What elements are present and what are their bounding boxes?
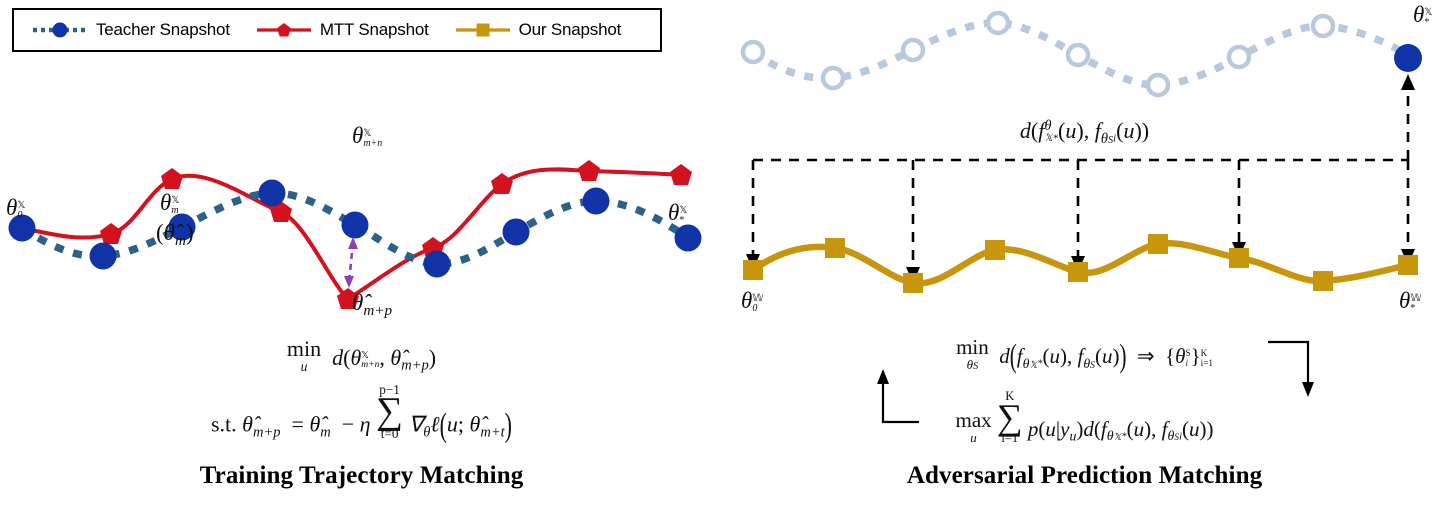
- left-objective-equation: minu d(θ𝕏m+n, θ̂m+p): [0, 338, 723, 374]
- right-panel-caption: Adversarial Prediction Matching: [723, 462, 1446, 490]
- legend-item-our-snapshot: Our Snapshot: [455, 20, 622, 40]
- legend: Teacher Snapshot MTT Snapshot Our Snapsh…: [12, 8, 662, 52]
- legend-label-our-snapshot: Our Snapshot: [519, 20, 622, 40]
- label-theta-m-teacher: θ𝕏m: [160, 190, 179, 216]
- legend-label-mtt-snapshot: MTT Snapshot: [320, 20, 429, 40]
- legend-item-teacher-snapshot: Teacher Snapshot: [32, 20, 230, 40]
- label-theta-0-student: θ𝕎0: [741, 288, 763, 314]
- mtt-snapshot-legend-swatch: [256, 20, 312, 40]
- label-theta-m-plus-n-teacher: θ𝕏m+n: [352, 123, 382, 149]
- label-theta-0-teacher: θ𝕏0: [6, 195, 25, 221]
- legend-item-mtt-snapshot: MTT Snapshot: [256, 20, 429, 40]
- label-theta-star-student: θ𝕎*: [1399, 288, 1421, 314]
- prediction-matching-connectors: [753, 80, 1408, 271]
- right-max-equation: maxu K∑i=1 p(u|yu)d(fθ𝕏*(u), fθSi(u)): [723, 390, 1446, 445]
- label-theta-hat-m: (θ̂m): [156, 220, 194, 250]
- label-distance-function: d(fθ𝕏*(u), fθSi(u)): [723, 118, 1446, 148]
- our-snapshot-legend-swatch: [455, 20, 511, 40]
- label-theta-star-teacher-right: θ𝕏*: [1413, 2, 1432, 28]
- right-trajectory-plot: [723, 0, 1446, 330]
- teacher-snapshot-legend-swatch: [32, 20, 88, 40]
- student-snapshot-markers: [743, 234, 1418, 293]
- right-panel-adversarial-prediction-matching: θ𝕏* d(fθ𝕏*(u), fθSi(u)) θ𝕎0 θ𝕎* minθS d(…: [723, 0, 1446, 509]
- label-theta-star-teacher: θ𝕏*: [668, 200, 687, 226]
- legend-label-teacher-snapshot: Teacher Snapshot: [96, 20, 230, 40]
- left-panel-training-trajectory-matching: Teacher Snapshot MTT Snapshot Our Snapsh…: [0, 0, 723, 509]
- teacher-final-snapshot-marker: [1394, 44, 1422, 72]
- left-panel-caption: Training Trajectory Matching: [0, 462, 723, 490]
- faded-teacher-snapshot-markers: [743, 13, 1333, 95]
- label-theta-hat-m-plus-p: θ̂m+p: [352, 290, 392, 320]
- distance-double-arrow: [344, 237, 358, 288]
- left-constraint-equation: s.t. θ̂m+p = θ̂m − η p−1∑t=0 ∇θℓ(u; θ̂m+…: [0, 383, 723, 441]
